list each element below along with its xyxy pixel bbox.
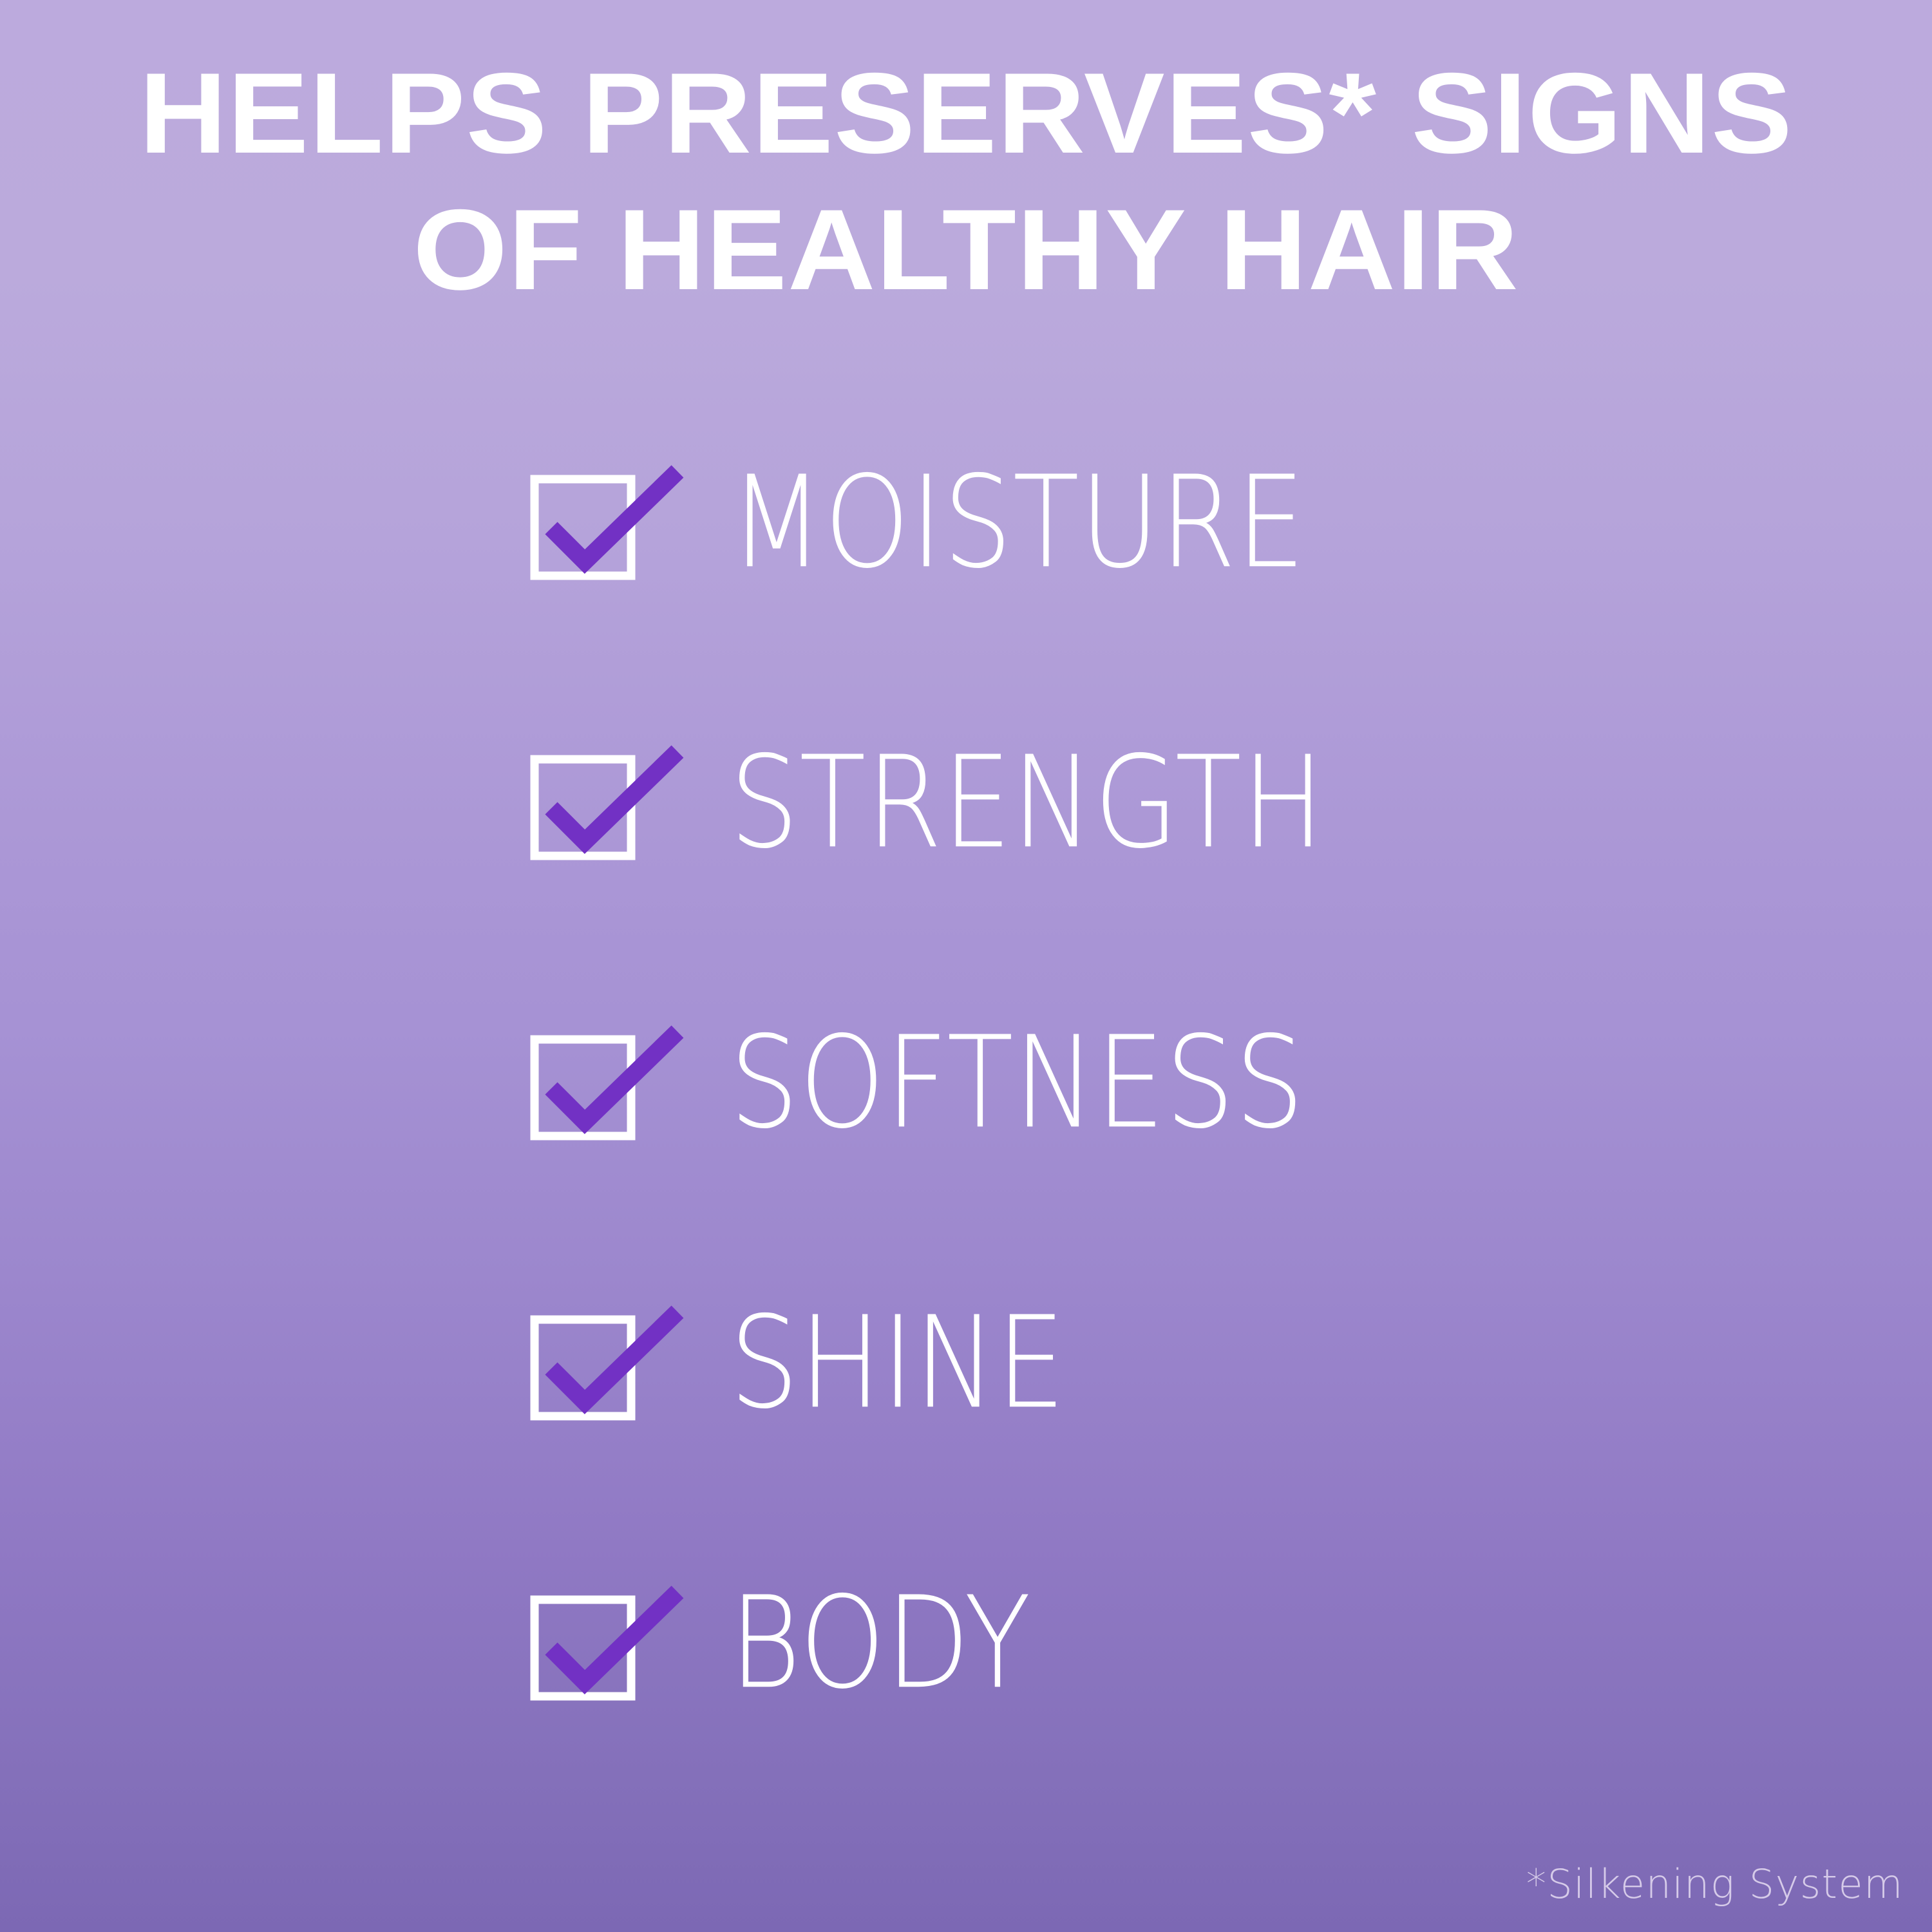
- list-item: SOFTNESS: [533, 1038, 1821, 1318]
- checked-checkbox-icon: [533, 1598, 635, 1700]
- list-item-label: SHINE: [730, 1291, 1066, 1435]
- list-item-label: SOFTNESS: [730, 1011, 1305, 1155]
- checked-checkbox-icon: [533, 1318, 635, 1420]
- promo-poster: HELPS PRESERVES* SIGNS OF HEALTHY HAIR M…: [0, 0, 1932, 1932]
- benefits-checklist: MOISTURE STRENGTH SOFTNESS: [533, 478, 1821, 1879]
- footnote-disclaimer: *Silkening System: [1526, 1861, 1904, 1908]
- checked-checkbox-icon: [533, 758, 635, 860]
- list-item-label: BODY: [730, 1571, 1032, 1716]
- checked-checkbox-icon: [533, 1038, 635, 1140]
- checked-checkbox-icon: [533, 478, 635, 580]
- headline-line-1: HELPS PRESERVES* SIGNS: [0, 45, 1932, 182]
- list-item: STRENGTH: [533, 758, 1821, 1038]
- list-item: SHINE: [533, 1318, 1821, 1598]
- headline-line-2: OF HEALTHY HAIR: [0, 182, 1932, 318]
- list-item-label: MOISTURE: [730, 451, 1306, 595]
- list-item-label: STRENGTH: [730, 731, 1325, 875]
- list-item: BODY: [533, 1598, 1821, 1879]
- list-item: MOISTURE: [533, 478, 1821, 758]
- page-title: HELPS PRESERVES* SIGNS OF HEALTHY HAIR: [0, 45, 1932, 318]
